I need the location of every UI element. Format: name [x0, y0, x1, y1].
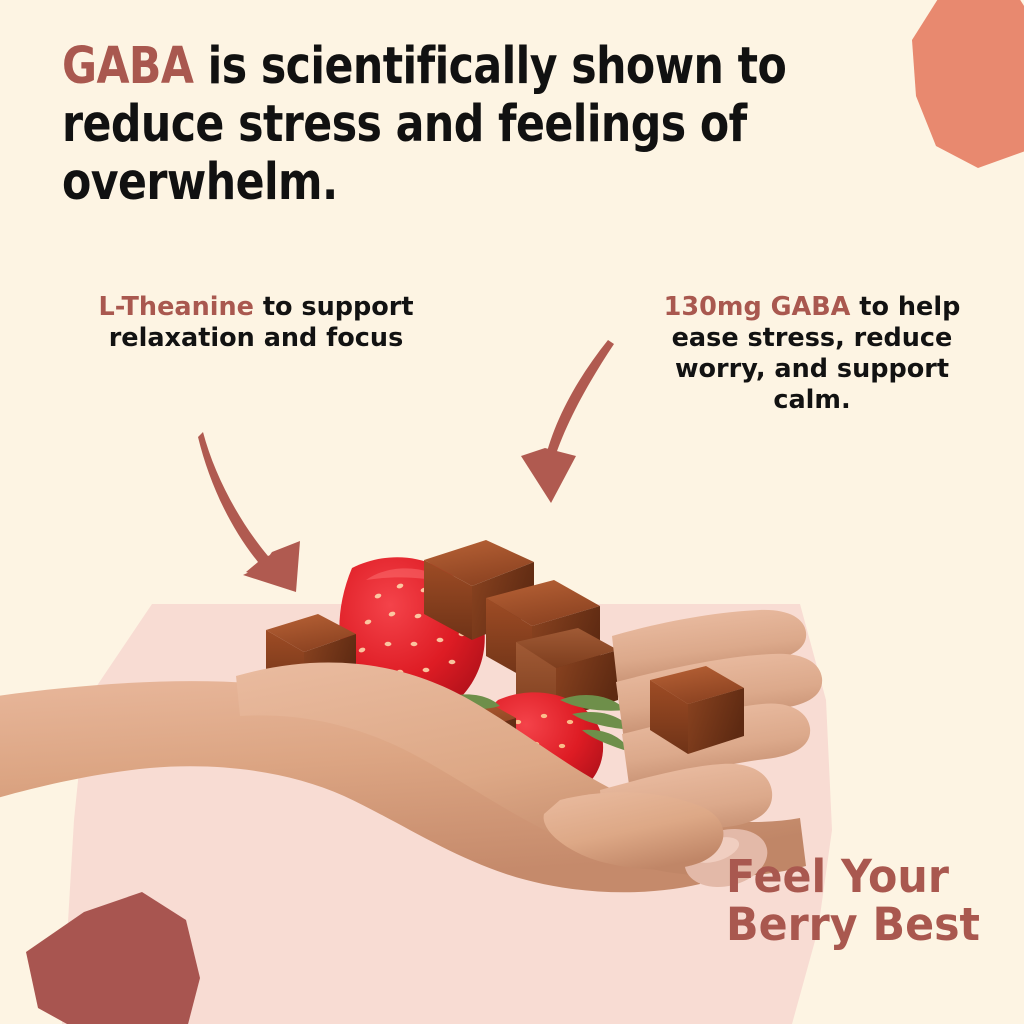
promo-canvas: GABA is scientifically shown to reduce s…: [0, 0, 1024, 1024]
tagline-line-1: Feel Your: [726, 853, 997, 901]
brick-blob-bottom-left-shape: [26, 892, 200, 1024]
tagline-line-2: Berry Best: [726, 901, 997, 949]
tagline: Feel Your Berry Best: [726, 853, 997, 949]
